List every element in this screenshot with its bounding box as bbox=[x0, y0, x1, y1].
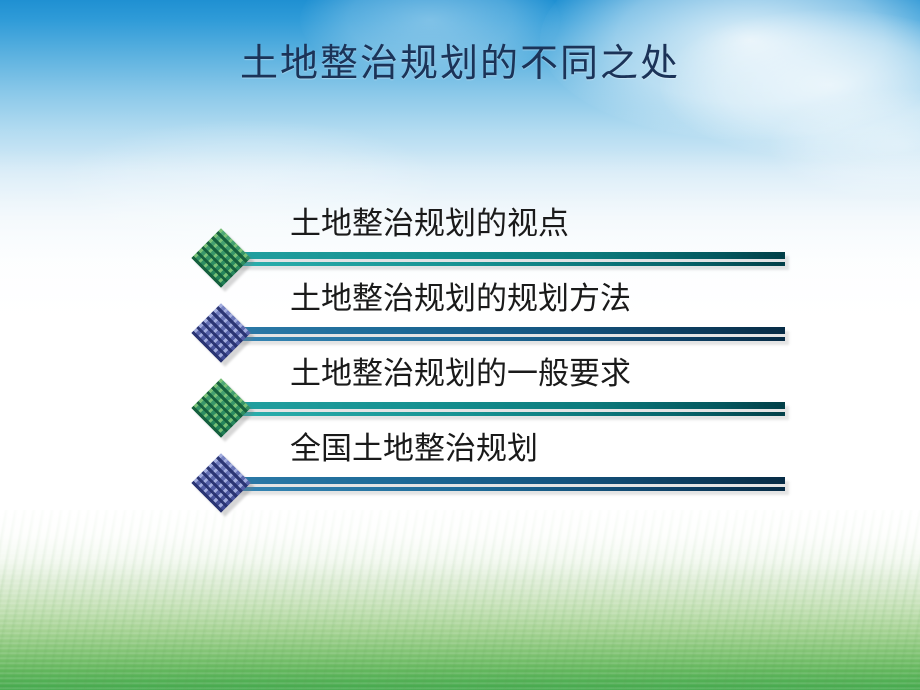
divider-rule bbox=[228, 477, 785, 491]
slide-title: 土地整治规划的不同之处 bbox=[0, 38, 920, 90]
bullet-list: 土地整治规划的视点 土地整治规划的规划方法 土地整治规划 bbox=[0, 200, 920, 500]
list-item-label: 全国土地整治规划 bbox=[290, 427, 538, 471]
divider-band-bottom bbox=[228, 262, 785, 266]
divider-band-top bbox=[228, 252, 785, 259]
divider-band-top bbox=[228, 327, 785, 334]
list-item[interactable]: 全国土地整治规划 bbox=[0, 425, 920, 500]
divider-band-bottom bbox=[228, 487, 785, 491]
divider-band-top bbox=[228, 477, 785, 484]
list-item[interactable]: 土地整治规划的规划方法 bbox=[0, 275, 920, 350]
divider-band-bottom bbox=[228, 337, 785, 341]
divider-rule bbox=[228, 402, 785, 416]
divider-rule bbox=[228, 252, 785, 266]
divider-rule bbox=[228, 327, 785, 341]
list-item[interactable]: 土地整治规划的视点 bbox=[0, 200, 920, 275]
grass-horizon-fade bbox=[0, 490, 920, 580]
list-item-label: 土地整治规划的视点 bbox=[290, 202, 569, 246]
list-item-label: 土地整治规划的一般要求 bbox=[290, 352, 631, 396]
divider-band-top bbox=[228, 402, 785, 409]
list-item-label: 土地整治规划的规划方法 bbox=[290, 277, 631, 321]
slide-canvas: 土地整治规划的不同之处 土地整治规划的视点 土地整治规划的规划方法 bbox=[0, 0, 920, 690]
divider-band-bottom bbox=[228, 412, 785, 416]
list-item[interactable]: 土地整治规划的一般要求 bbox=[0, 350, 920, 425]
